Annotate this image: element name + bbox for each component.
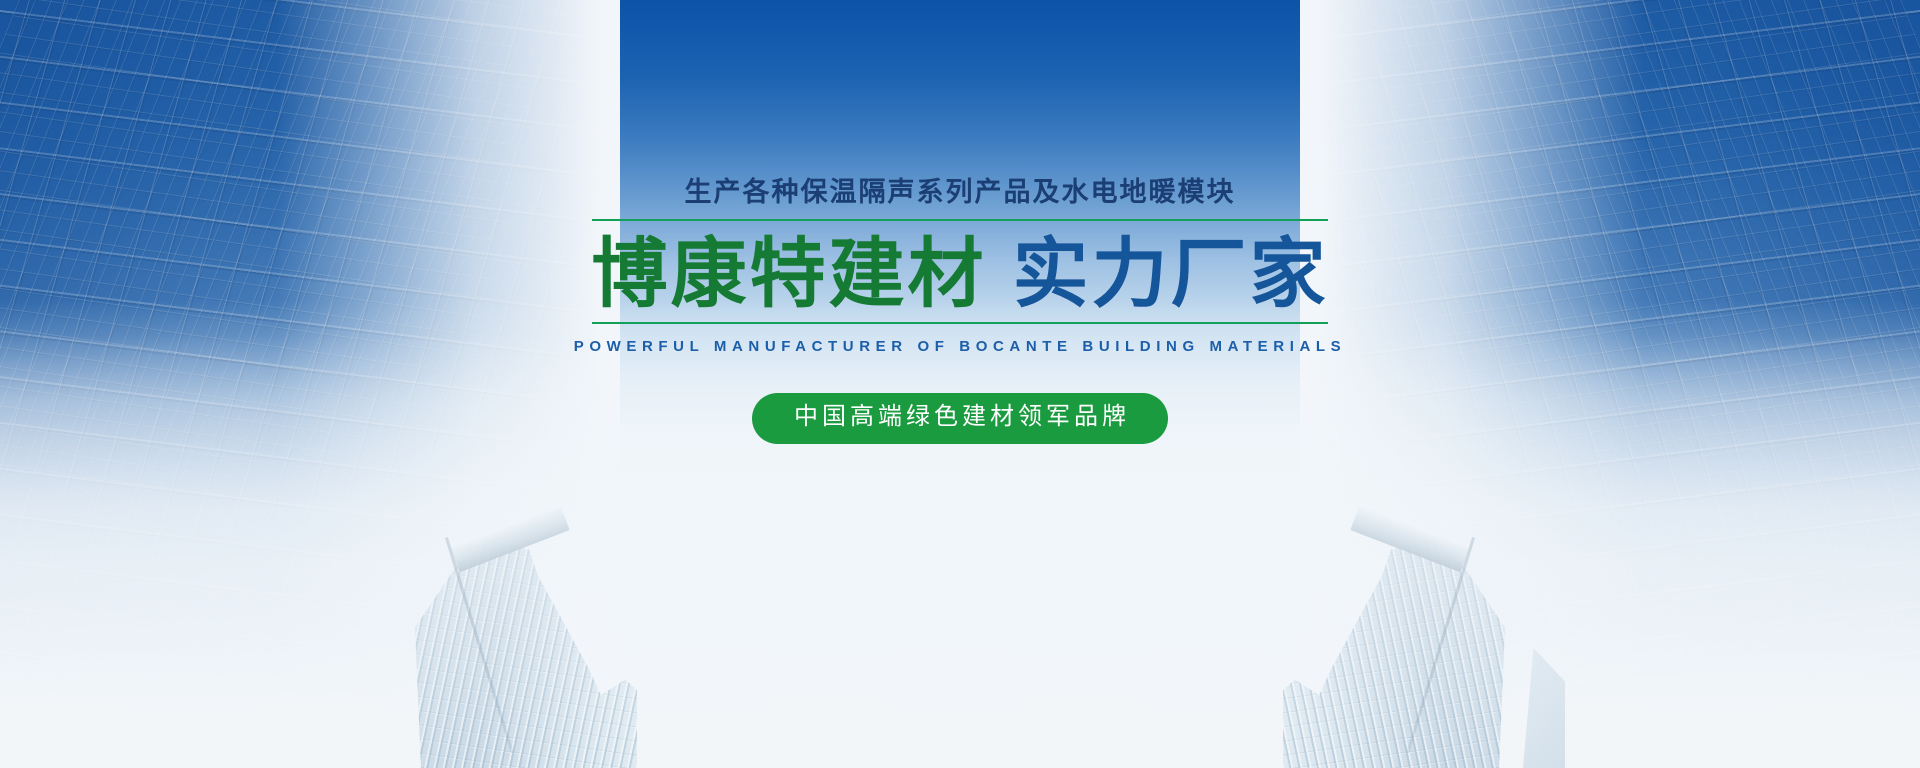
banner-text-block: 生产各种保温隔声系列产品及水电地暖模块 博康特建材实力厂家 POWERFUL M… [0, 176, 1920, 444]
banner-tagline: 生产各种保温隔声系列产品及水电地暖模块 [685, 176, 1236, 208]
brand-badge: 中国高端绿色建材领军品牌 [752, 393, 1168, 443]
banner-subline-english: POWERFUL MANUFACTURER OF BOCANTE BUILDIN… [574, 338, 1347, 355]
headline-brand-name: 博康特建材 [592, 232, 987, 317]
divider-rule-bottom [592, 322, 1328, 324]
hero-banner: 生产各种保温隔声系列产品及水电地暖模块 博康特建材实力厂家 POWERFUL M… [0, 0, 1920, 768]
headline-qualifier: 实力厂家 [1013, 232, 1329, 317]
banner-headline: 博康特建材实力厂家 [592, 227, 1329, 322]
center-tower-right [1205, 508, 1505, 768]
divider-rule-top [592, 219, 1328, 221]
center-tower-left [415, 508, 715, 768]
